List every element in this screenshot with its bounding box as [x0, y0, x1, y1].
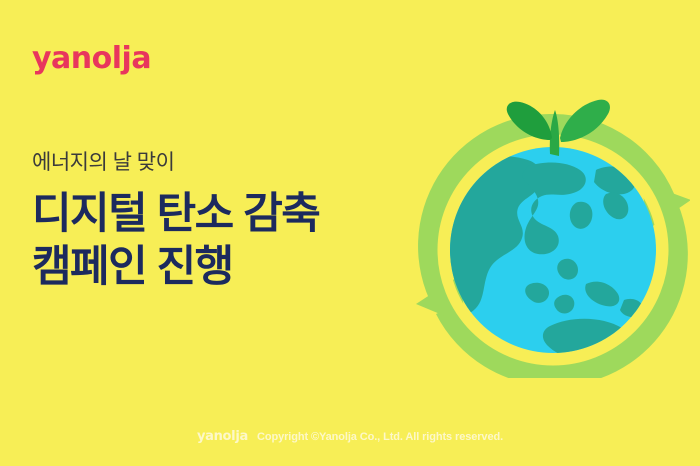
earth-illustration	[410, 78, 690, 378]
brand-logo[interactable]: yanolja	[32, 44, 151, 74]
eyebrow-text: 에너지의 날 맞이	[32, 150, 432, 176]
footer-brand-logo: yanolja	[197, 429, 248, 444]
footer: yanolja Copyright ©Yanolja Co., Ltd. All…	[0, 429, 700, 444]
copy-block: 에너지의 날 맞이 디지털 탄소 감축 캠페인 진행	[32, 150, 432, 293]
page-title: 디지털 탄소 감축 캠페인 진행	[32, 188, 432, 293]
campaign-banner: yanolja 에너지의 날 맞이 디지털 탄소 감축 캠페인 진행	[0, 0, 700, 466]
footer-copyright: Copyright ©Yanolja Co., Ltd. All rights …	[257, 431, 503, 443]
